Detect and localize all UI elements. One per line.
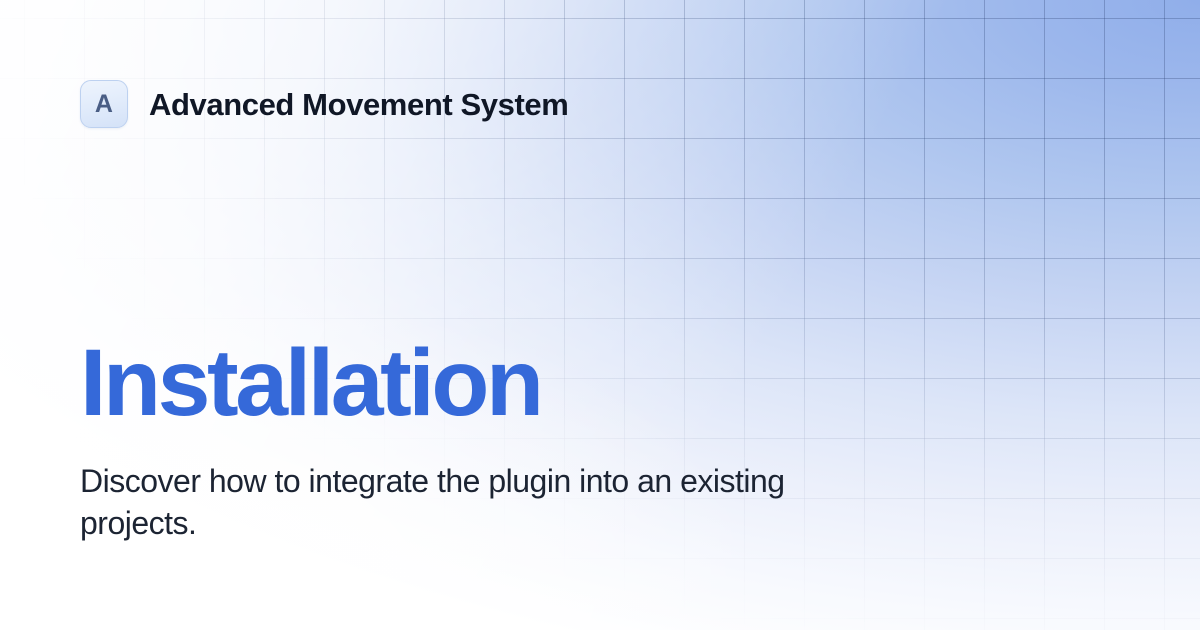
brand-name: Advanced Movement System [149,89,568,120]
page-title: Installation [80,336,900,431]
og-card: A Advanced Movement System Installation … [0,0,1200,630]
hero-block: Installation Discover how to integrate t… [80,336,900,544]
brand-badge-letter: A [95,92,113,117]
letter-a-badge-icon: A [80,80,128,128]
card-content: A Advanced Movement System Installation … [0,0,1200,630]
page-subtitle: Discover how to integrate the plugin int… [80,461,840,544]
brand-lockup: A Advanced Movement System [80,80,568,128]
